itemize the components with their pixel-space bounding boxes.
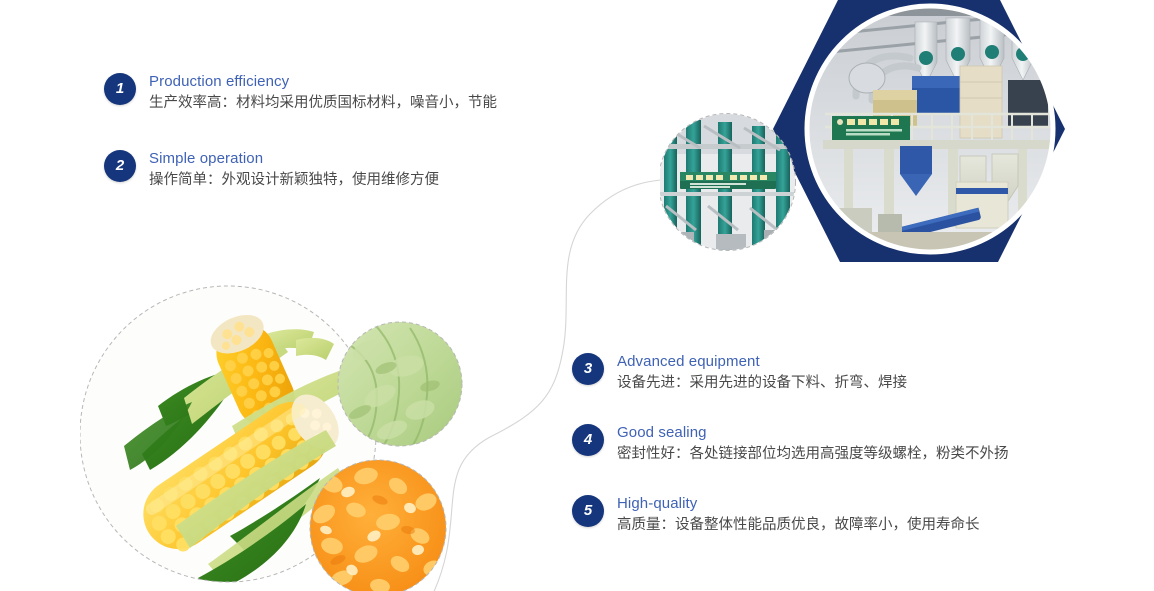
feature-title-1: Production efficiency: [149, 72, 497, 91]
teal-milling-machinery-photo: [660, 114, 796, 253]
feature-item-4[interactable]: 4 Good sealing 密封性好：各处链接部位均选用高强度等级螺栓，粉类不…: [572, 423, 1009, 465]
feature-number-badge-3: 3: [572, 353, 604, 385]
feature-number-badge-5: 5: [572, 495, 604, 527]
feature-item-1[interactable]: 1 Production efficiency 生产效率高：材料均采用优质国标材…: [104, 72, 497, 114]
feature-number-badge-4: 4: [572, 424, 604, 456]
feature-title-5: High-quality: [617, 494, 980, 513]
feature-text-3: Advanced equipment 设备先进：采用先进的设备下料、折弯、焊接: [617, 352, 907, 394]
feature-desc-5: 高质量：设备整体性能品质优良，故障率小，使用寿命长: [617, 514, 980, 536]
feature-title-2: Simple operation: [149, 149, 439, 168]
feature-list-left: 1 Production efficiency 生产效率高：材料均采用优质国标材…: [104, 72, 497, 226]
feature-desc-4: 密封性好：各处链接部位均选用高强度等级螺栓，粉类不外扬: [617, 443, 1009, 465]
feature-text-2: Simple operation 操作简单：外观设计新颖独特，使用维修方便: [149, 149, 439, 191]
bottom-left-imagery: [80, 278, 500, 591]
feature-desc-1: 生产效率高：材料均采用优质国标材料，噪音小，节能: [149, 92, 497, 114]
feature-desc-2: 操作简单：外观设计新颖独特，使用维修方便: [149, 169, 439, 191]
feature-title-3: Advanced equipment: [617, 352, 907, 371]
banner-text: [847, 119, 899, 125]
feature-title-4: Good sealing: [617, 423, 1009, 442]
feature-text-4: Good sealing 密封性好：各处链接部位均选用高强度等级螺栓，粉类不外扬: [617, 423, 1009, 465]
feature-text-5: High-quality 高质量：设备整体性能品质优良，故障率小，使用寿命长: [617, 494, 980, 536]
feature-item-2[interactable]: 2 Simple operation 操作简单：外观设计新颖独特，使用维修方便: [104, 149, 497, 191]
flour-milling-plant-photo: [807, 0, 1053, 258]
top-right-imagery: [660, 0, 1154, 286]
feature-text-1: Production efficiency 生产效率高：材料均采用优质国标材料，…: [149, 72, 497, 114]
feature-number-badge-1: 1: [104, 73, 136, 105]
feature-infographic: 1 Production efficiency 生产效率高：材料均采用优质国标材…: [0, 0, 1154, 591]
feature-item-5[interactable]: 5 High-quality 高质量：设备整体性能品质优良，故障率小，使用寿命长: [572, 494, 1009, 536]
feature-desc-3: 设备先进：采用先进的设备下料、折弯、焊接: [617, 372, 907, 394]
feature-number-badge-2: 2: [104, 150, 136, 182]
feature-list-right: 3 Advanced equipment 设备先进：采用先进的设备下料、折弯、焊…: [572, 352, 1009, 565]
feature-item-3[interactable]: 3 Advanced equipment 设备先进：采用先进的设备下料、折弯、焊…: [572, 352, 1009, 394]
